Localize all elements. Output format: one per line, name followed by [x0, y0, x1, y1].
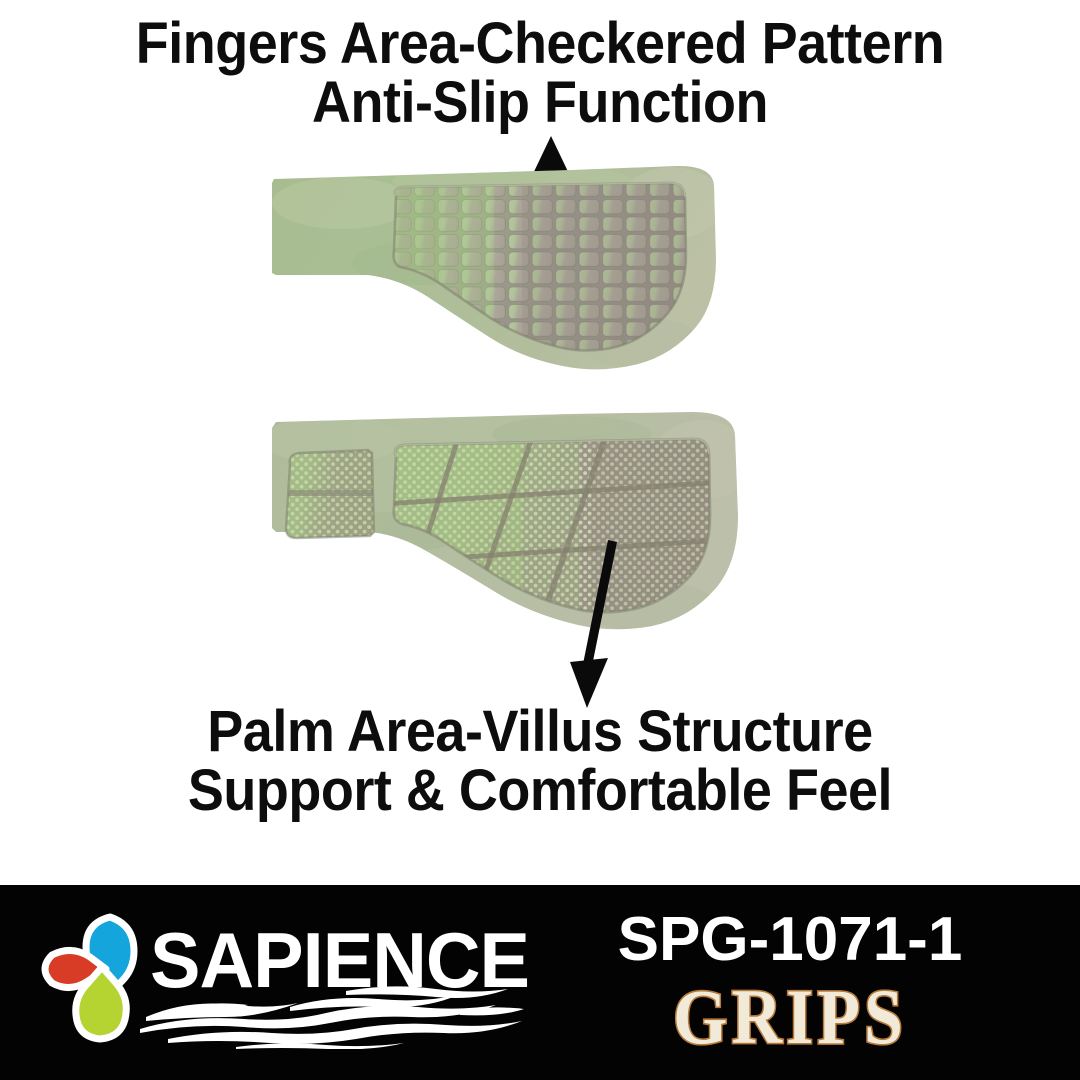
top-annotation-text: Fingers Area-Checkered Pattern Anti-Slip… — [38, 14, 1042, 132]
product-sku: SPG-1071-1 — [540, 907, 1040, 972]
product-category: GRIPS — [540, 977, 1040, 1059]
flame-wave-graphic-icon — [140, 977, 540, 1049]
bottom-annotation-line1: Palm Area-Villus Structure — [38, 702, 1042, 761]
bottom-annotation-line2: Support & Comfortable Feel — [38, 761, 1042, 820]
top-annotation-line1: Fingers Area-Checkered Pattern — [38, 14, 1042, 73]
arrow-down-icon — [568, 540, 628, 708]
palm-area-grip-photo — [272, 412, 742, 632]
top-annotation-line2: Anti-Slip Function — [38, 73, 1042, 132]
footer-bar: SAPIENCE SPG-1071-1 GRIPS — [0, 885, 1080, 1080]
fingers-area-grip-photo — [272, 163, 720, 375]
infographic-canvas: Fingers Area-Checkered Pattern Anti-Slip… — [0, 0, 1080, 1080]
bottom-annotation-text: Palm Area-Villus Structure Support & Com… — [38, 702, 1042, 820]
